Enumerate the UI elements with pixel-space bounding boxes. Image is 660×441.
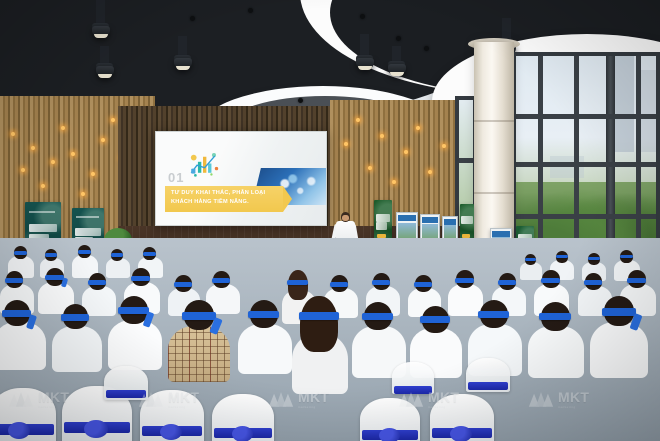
led-accent-light	[31, 146, 35, 150]
chair-bow	[379, 428, 400, 441]
ceiling-downlight	[248, 8, 253, 13]
chair-bow	[160, 424, 182, 440]
slide-headline-line-2: KHÁCH HÀNG TIỀM NĂNG.	[171, 198, 283, 207]
pendant-light	[360, 34, 369, 58]
led-accent-light	[21, 168, 25, 172]
led-accent-light	[41, 184, 45, 188]
pendant-lamp-head	[92, 26, 110, 38]
led-accent-light	[404, 150, 408, 154]
chair-sash	[106, 390, 146, 398]
led-accent-light	[368, 166, 372, 170]
seminar-photo-scene: 01 TƯ DUY KHAI THÁC, PHÂN LOẠI KHÁCH HÀN…	[0, 0, 660, 441]
slide-number: 01	[168, 170, 184, 185]
pendant-light	[100, 46, 109, 66]
presenter-face	[342, 215, 349, 221]
audience-plaid-shirt-person	[168, 326, 230, 382]
ceiling-downlight	[424, 46, 429, 51]
led-accent-light	[111, 118, 115, 122]
pendant-light	[178, 36, 187, 58]
led-accent-light	[101, 138, 105, 142]
ceiling-downlight	[396, 36, 401, 41]
pendant-light	[392, 46, 401, 64]
pendant-lamp-head	[96, 66, 114, 78]
led-accent-light	[71, 152, 75, 156]
ceiling-downlight	[298, 98, 303, 103]
chair-sash	[468, 382, 508, 390]
led-accent-light	[91, 172, 95, 176]
pendant-light	[96, 0, 105, 26]
led-accent-light	[51, 160, 55, 164]
projection-screen: 01 TƯ DUY KHAI THÁC, PHÂN LOẠI KHÁCH HÀN…	[155, 131, 327, 226]
led-accent-light	[416, 126, 420, 130]
pendant-lamp-head	[174, 58, 192, 70]
chair-bow	[8, 422, 30, 439]
bar-chart-growth-icon	[186, 150, 220, 177]
led-accent-light	[11, 132, 15, 136]
led-accent-light	[356, 118, 360, 122]
chair-bow	[84, 420, 108, 438]
slide-headline-banner: TƯ DUY KHAI THÁC, PHÂN LOẠI KHÁCH HÀNG T…	[165, 186, 283, 212]
audience-seating-area	[0, 238, 660, 441]
ceiling-downlight	[190, 16, 195, 21]
led-accent-light	[380, 134, 384, 138]
slide-headline-line-1: TƯ DUY KHAI THÁC, PHÂN LOẠI	[171, 189, 283, 198]
led-accent-light	[344, 142, 348, 146]
led-accent-light	[392, 180, 396, 184]
led-accent-light	[442, 144, 446, 148]
chair-bow	[450, 426, 472, 441]
pendant-lamp-head	[388, 64, 406, 76]
pendant-lamp-head	[356, 58, 374, 70]
led-accent-light	[428, 170, 432, 174]
led-accent-light	[81, 192, 85, 196]
ceiling-downlight	[360, 14, 365, 19]
chair-bow	[232, 426, 253, 441]
chair-sash	[394, 386, 432, 394]
led-accent-light	[61, 126, 65, 130]
slide-headline-text: TƯ DUY KHAI THÁC, PHÂN LOẠI KHÁCH HÀNG T…	[171, 189, 283, 206]
